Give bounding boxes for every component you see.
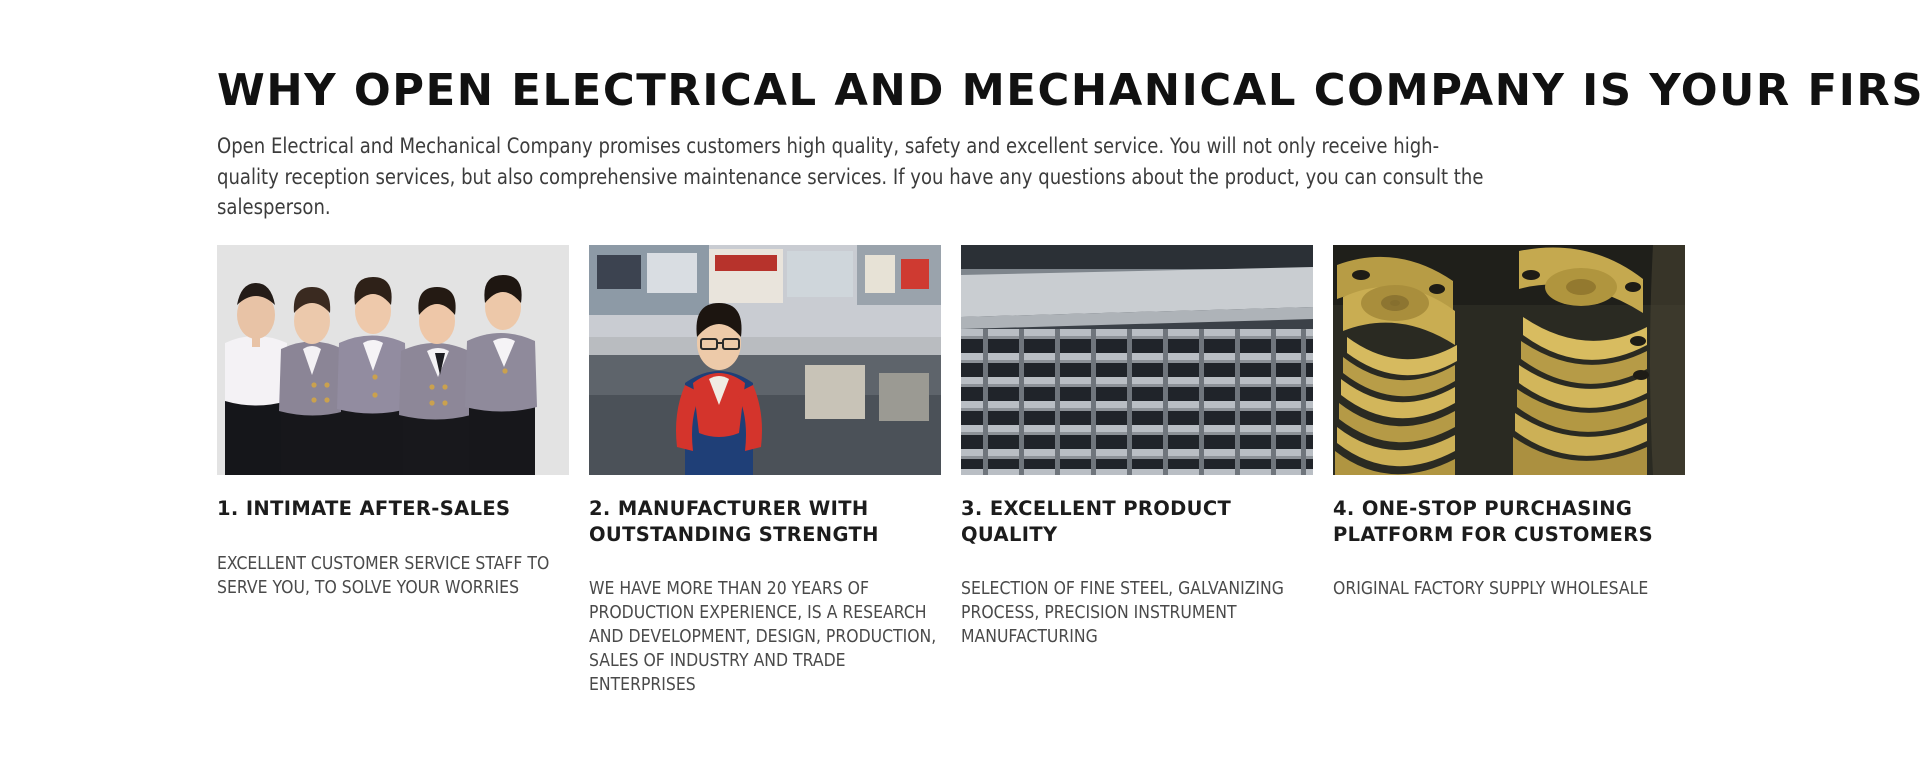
team-staff-illustration (217, 245, 569, 475)
brass-pulley-brackets-photo (1333, 245, 1685, 475)
page-title: WHY OPEN ELECTRICAL AND MECHANICAL COMPA… (217, 68, 1681, 114)
card-heading: 1. INTIMATE AFTER-SALES (217, 496, 569, 522)
card-body-text: SELECTION OF FINE STEEL, GALVANIZING PRO… (961, 577, 1313, 649)
aluminium-profile-stack-photo (961, 245, 1313, 475)
why-choose-us-section: WHY OPEN ELECTRICAL AND MECHANICAL COMPA… (0, 0, 1920, 772)
feature-card: 3. EXCELLENT PRODUCT QUALITY SELECTION O… (961, 245, 1313, 697)
feature-card-grid: 1. INTIMATE AFTER-SALES EXCELLENT CUSTOM… (217, 245, 1703, 697)
section-header: WHY OPEN ELECTRICAL AND MECHANICAL COMPA… (217, 0, 1703, 223)
factory-worker-illustration (589, 245, 941, 475)
card-body-text: WE HAVE MORE THAN 20 YEARS OF PRODUCTION… (589, 577, 941, 697)
factory-worker-photo (589, 245, 941, 475)
card-body-text: ORIGINAL FACTORY SUPPLY WHOLESALE (1333, 577, 1685, 601)
card-heading: 3. EXCELLENT PRODUCT QUALITY (961, 496, 1313, 547)
brass-pulley-illustration (1333, 245, 1685, 475)
feature-card: 4. ONE-STOP PURCHASING PLATFORM FOR CUST… (1333, 245, 1685, 697)
aluminium-profile-illustration (961, 245, 1313, 475)
card-body-text: EXCELLENT CUSTOMER SERVICE STAFF TO SERV… (217, 552, 569, 600)
section-intro-paragraph: Open Electrical and Mechanical Company p… (217, 131, 1498, 222)
team-staff-photo (217, 245, 569, 475)
card-heading: 4. ONE-STOP PURCHASING PLATFORM FOR CUST… (1333, 496, 1685, 547)
feature-card: 1. INTIMATE AFTER-SALES EXCELLENT CUSTOM… (217, 245, 569, 697)
card-heading: 2. MANUFACTURER WITH OUTSTANDING STRENGT… (589, 496, 941, 547)
feature-card: 2. MANUFACTURER WITH OUTSTANDING STRENGT… (589, 245, 941, 697)
